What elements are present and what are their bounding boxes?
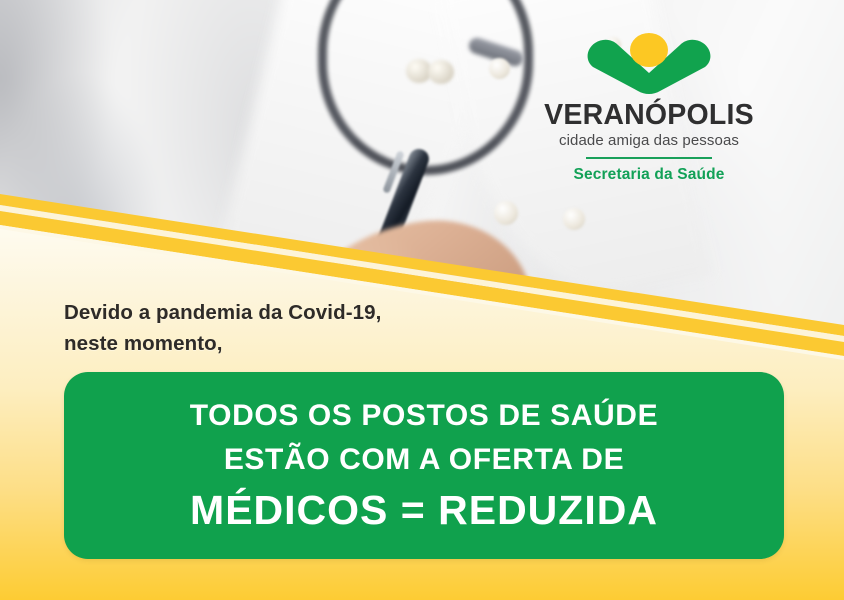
logo-tagline: cidade amiga das pessoas — [534, 131, 764, 150]
message-box: TODOS OS POSTOS DE SAÚDE ESTÃO COM A OFE… — [64, 372, 784, 559]
logo-wordmark: VERANÓPOLIS — [534, 99, 764, 131]
message-line-1: TODOS OS POSTOS DE SAÚDE — [190, 394, 658, 438]
poster-canvas: VERANÓPOLIS cidade amiga das pessoas Sec… — [0, 0, 844, 600]
logo-head-circle — [630, 33, 668, 67]
intro-text: Devido a pandemia da Covid-19, neste mom… — [64, 297, 381, 359]
veranopolis-logo: VERANÓPOLIS cidade amiga das pessoas Sec… — [534, 33, 764, 195]
veranopolis-person-mark-icon — [534, 33, 764, 95]
logo-department: Secretaria da Saúde — [534, 165, 764, 184]
logo-divider — [586, 157, 712, 159]
message-line-2: ESTÃO COM A OFERTA DE — [224, 438, 624, 482]
message-line-3: MÉDICOS = REDUZIDA — [190, 483, 658, 537]
